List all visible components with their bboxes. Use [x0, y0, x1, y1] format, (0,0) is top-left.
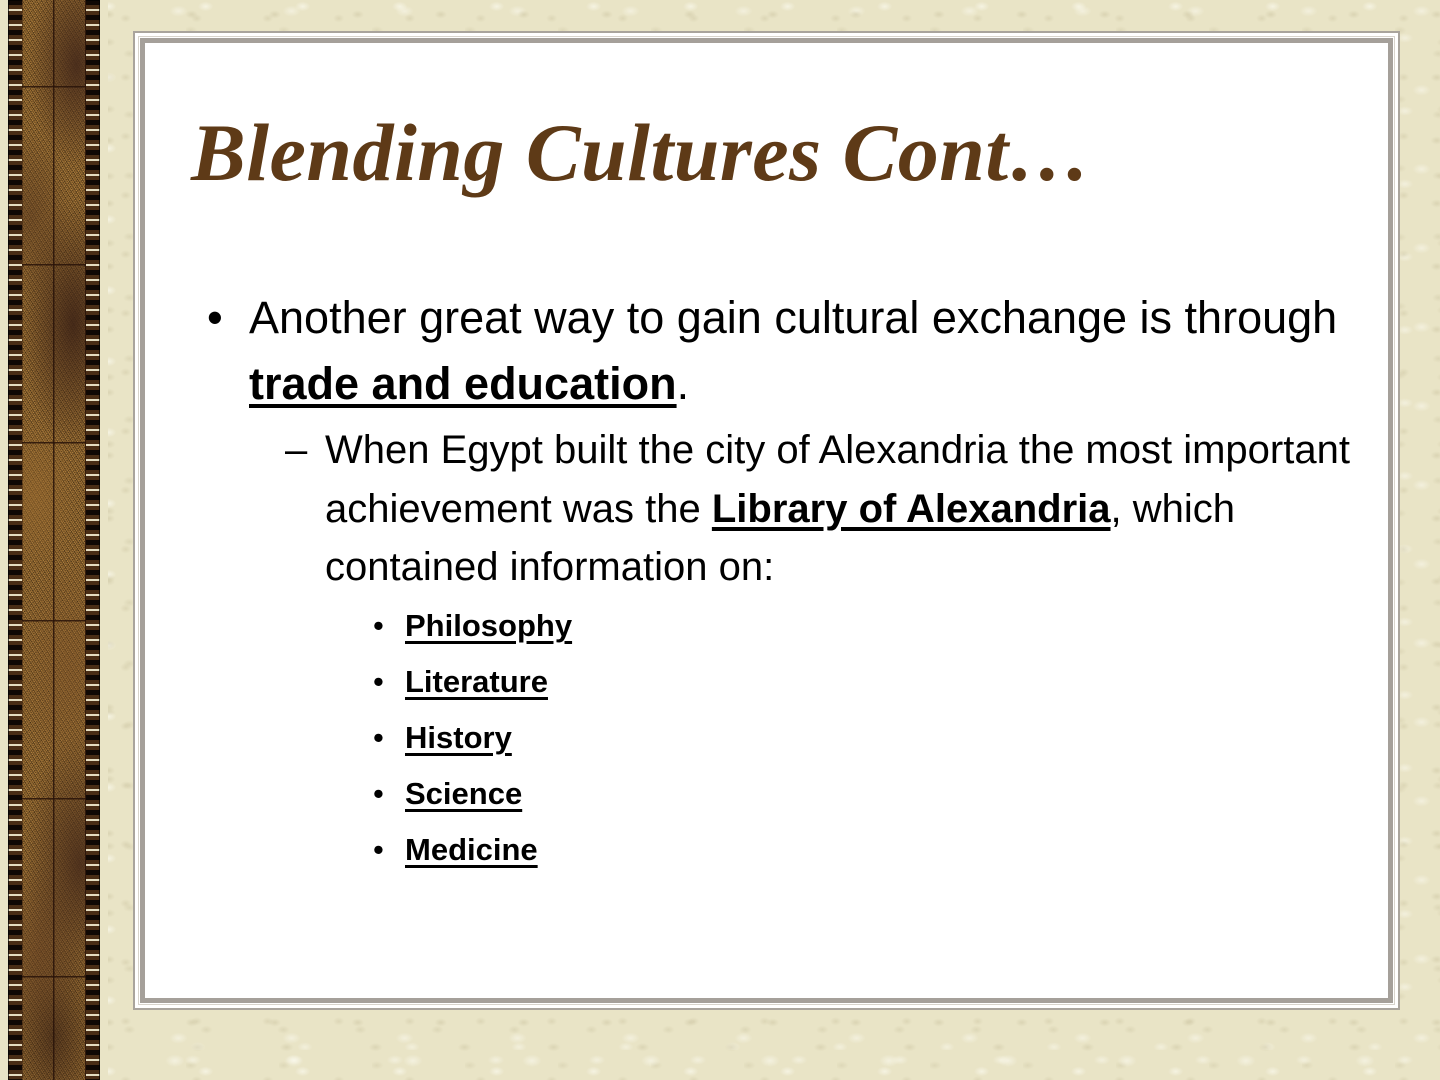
- list-item: •Literature: [173, 654, 1373, 710]
- slide-canvas: Blending Cultures Cont… •Another great w…: [145, 43, 1388, 998]
- bullet-level2-emphasis: Library of Alexandria: [712, 487, 1111, 531]
- decorative-left-band: [0, 0, 108, 1080]
- bullet-dash-icon: –: [285, 421, 307, 479]
- bullet-level3-label: Medicine: [405, 832, 538, 867]
- bullet-level1: •Another great way to gain cultural exch…: [173, 285, 1373, 417]
- band-grid-lines: [22, 0, 86, 1080]
- band-gutter-right: [100, 0, 108, 1080]
- bullet-dot-icon: •: [373, 822, 384, 878]
- bullet-level2: –When Egypt built the city of Alexandria…: [173, 421, 1373, 596]
- bullet-dot-icon: •: [373, 598, 384, 654]
- slide-frame-inner: Blending Cultures Cont… •Another great w…: [140, 38, 1393, 1003]
- bullet-level1-text-before: Another great way to gain cultural excha…: [249, 292, 1337, 343]
- slide: Blending Cultures Cont… •Another great w…: [0, 0, 1440, 1080]
- slide-frame-outer: Blending Cultures Cont… •Another great w…: [133, 31, 1400, 1010]
- list-item: •Science: [173, 766, 1373, 822]
- slide-body: •Another great way to gain cultural exch…: [173, 285, 1373, 877]
- bullet-dot-icon: •: [373, 766, 384, 822]
- bullet-dot-icon: •: [207, 285, 223, 351]
- bullet-dot-icon: •: [373, 654, 384, 710]
- band-gutter-left: [0, 0, 8, 1080]
- bullet-dot-icon: •: [373, 710, 384, 766]
- list-item: •Philosophy: [173, 598, 1373, 654]
- bullet-level3-list: •Philosophy •Literature •History •Scienc…: [173, 598, 1373, 877]
- bullet-level1-text-after: .: [677, 358, 690, 409]
- list-item: •Medicine: [173, 822, 1373, 878]
- slide-title: Blending Cultures Cont…: [191, 111, 1341, 195]
- bullet-level3-label: Philosophy: [405, 608, 572, 643]
- list-item: •History: [173, 710, 1373, 766]
- bullet-level3-label: Literature: [405, 664, 548, 699]
- bullet-level1-emphasis: trade and education: [249, 358, 677, 409]
- bullet-level3-label: Science: [405, 776, 522, 811]
- bullet-level3-label: History: [405, 720, 512, 755]
